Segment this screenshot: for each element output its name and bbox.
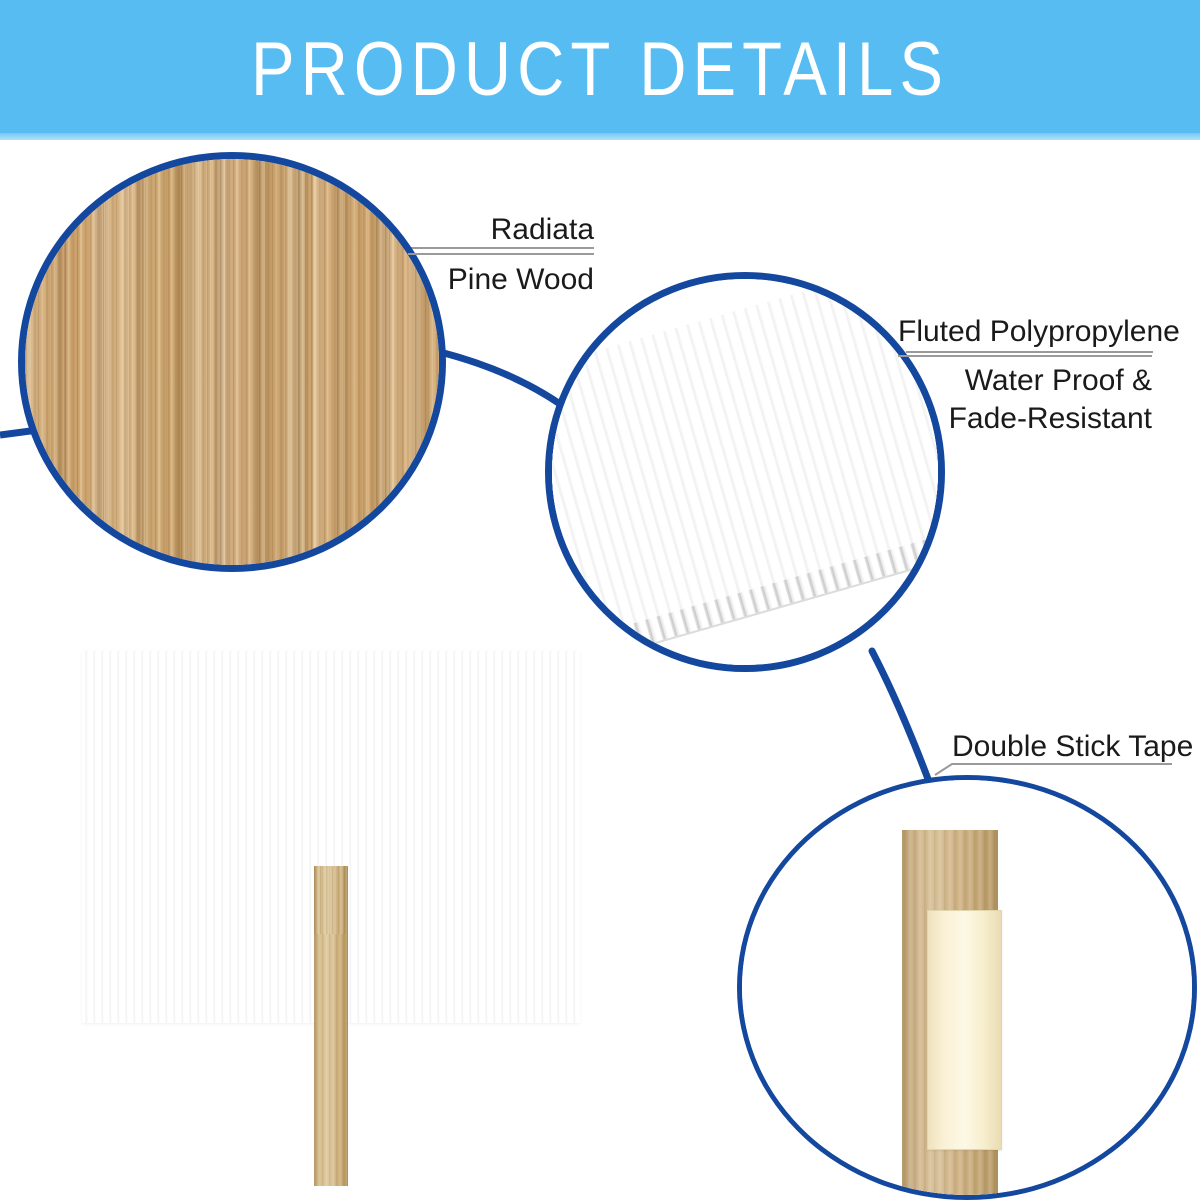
callout-circle-tape xyxy=(737,775,1197,1200)
callout-label-tape-title: Double Stick Tape xyxy=(952,727,1178,766)
connector-wood-to-poly xyxy=(440,352,560,404)
callout-label-polypropylene-subtitle-line-1: Water Proof & xyxy=(898,362,1152,400)
corrugated-sheet xyxy=(545,272,945,672)
stake-with-tape-image xyxy=(742,780,1192,1195)
product-stake-grooved-top xyxy=(314,866,346,934)
callout-label-polypropylene-divider xyxy=(898,355,1152,357)
callout-label-tape: Double Stick Tape xyxy=(952,727,1178,766)
corrugated-sheet-image xyxy=(552,279,938,665)
header-banner: PRODUCT DETAILS xyxy=(0,0,1200,140)
header-banner-bottom-shade xyxy=(0,133,1200,140)
callout-circle-polypropylene xyxy=(545,272,945,672)
product-details-infographic: PRODUCT DETAILS xyxy=(0,0,1200,1200)
double-stick-tape-strip xyxy=(927,910,1002,1150)
wood-grain-image xyxy=(25,159,439,565)
callout-label-polypropylene: Fluted Polypropylene Water Proof & Fade-… xyxy=(898,312,1152,438)
callout-label-wood-divider xyxy=(408,253,594,255)
callout-circle-wood xyxy=(18,152,446,572)
callout-label-wood: Radiata Pine Wood xyxy=(408,210,594,299)
callout-label-wood-title: Radiata xyxy=(408,210,594,249)
page-title: PRODUCT DETAILS xyxy=(84,26,1116,114)
callout-label-polypropylene-title: Fluted Polypropylene xyxy=(898,312,1152,351)
callout-label-polypropylene-subtitle-line-2: Fade-Resistant xyxy=(898,400,1152,438)
connector-poly-to-tape xyxy=(872,651,928,779)
callout-label-wood-subtitle: Pine Wood xyxy=(408,260,594,299)
